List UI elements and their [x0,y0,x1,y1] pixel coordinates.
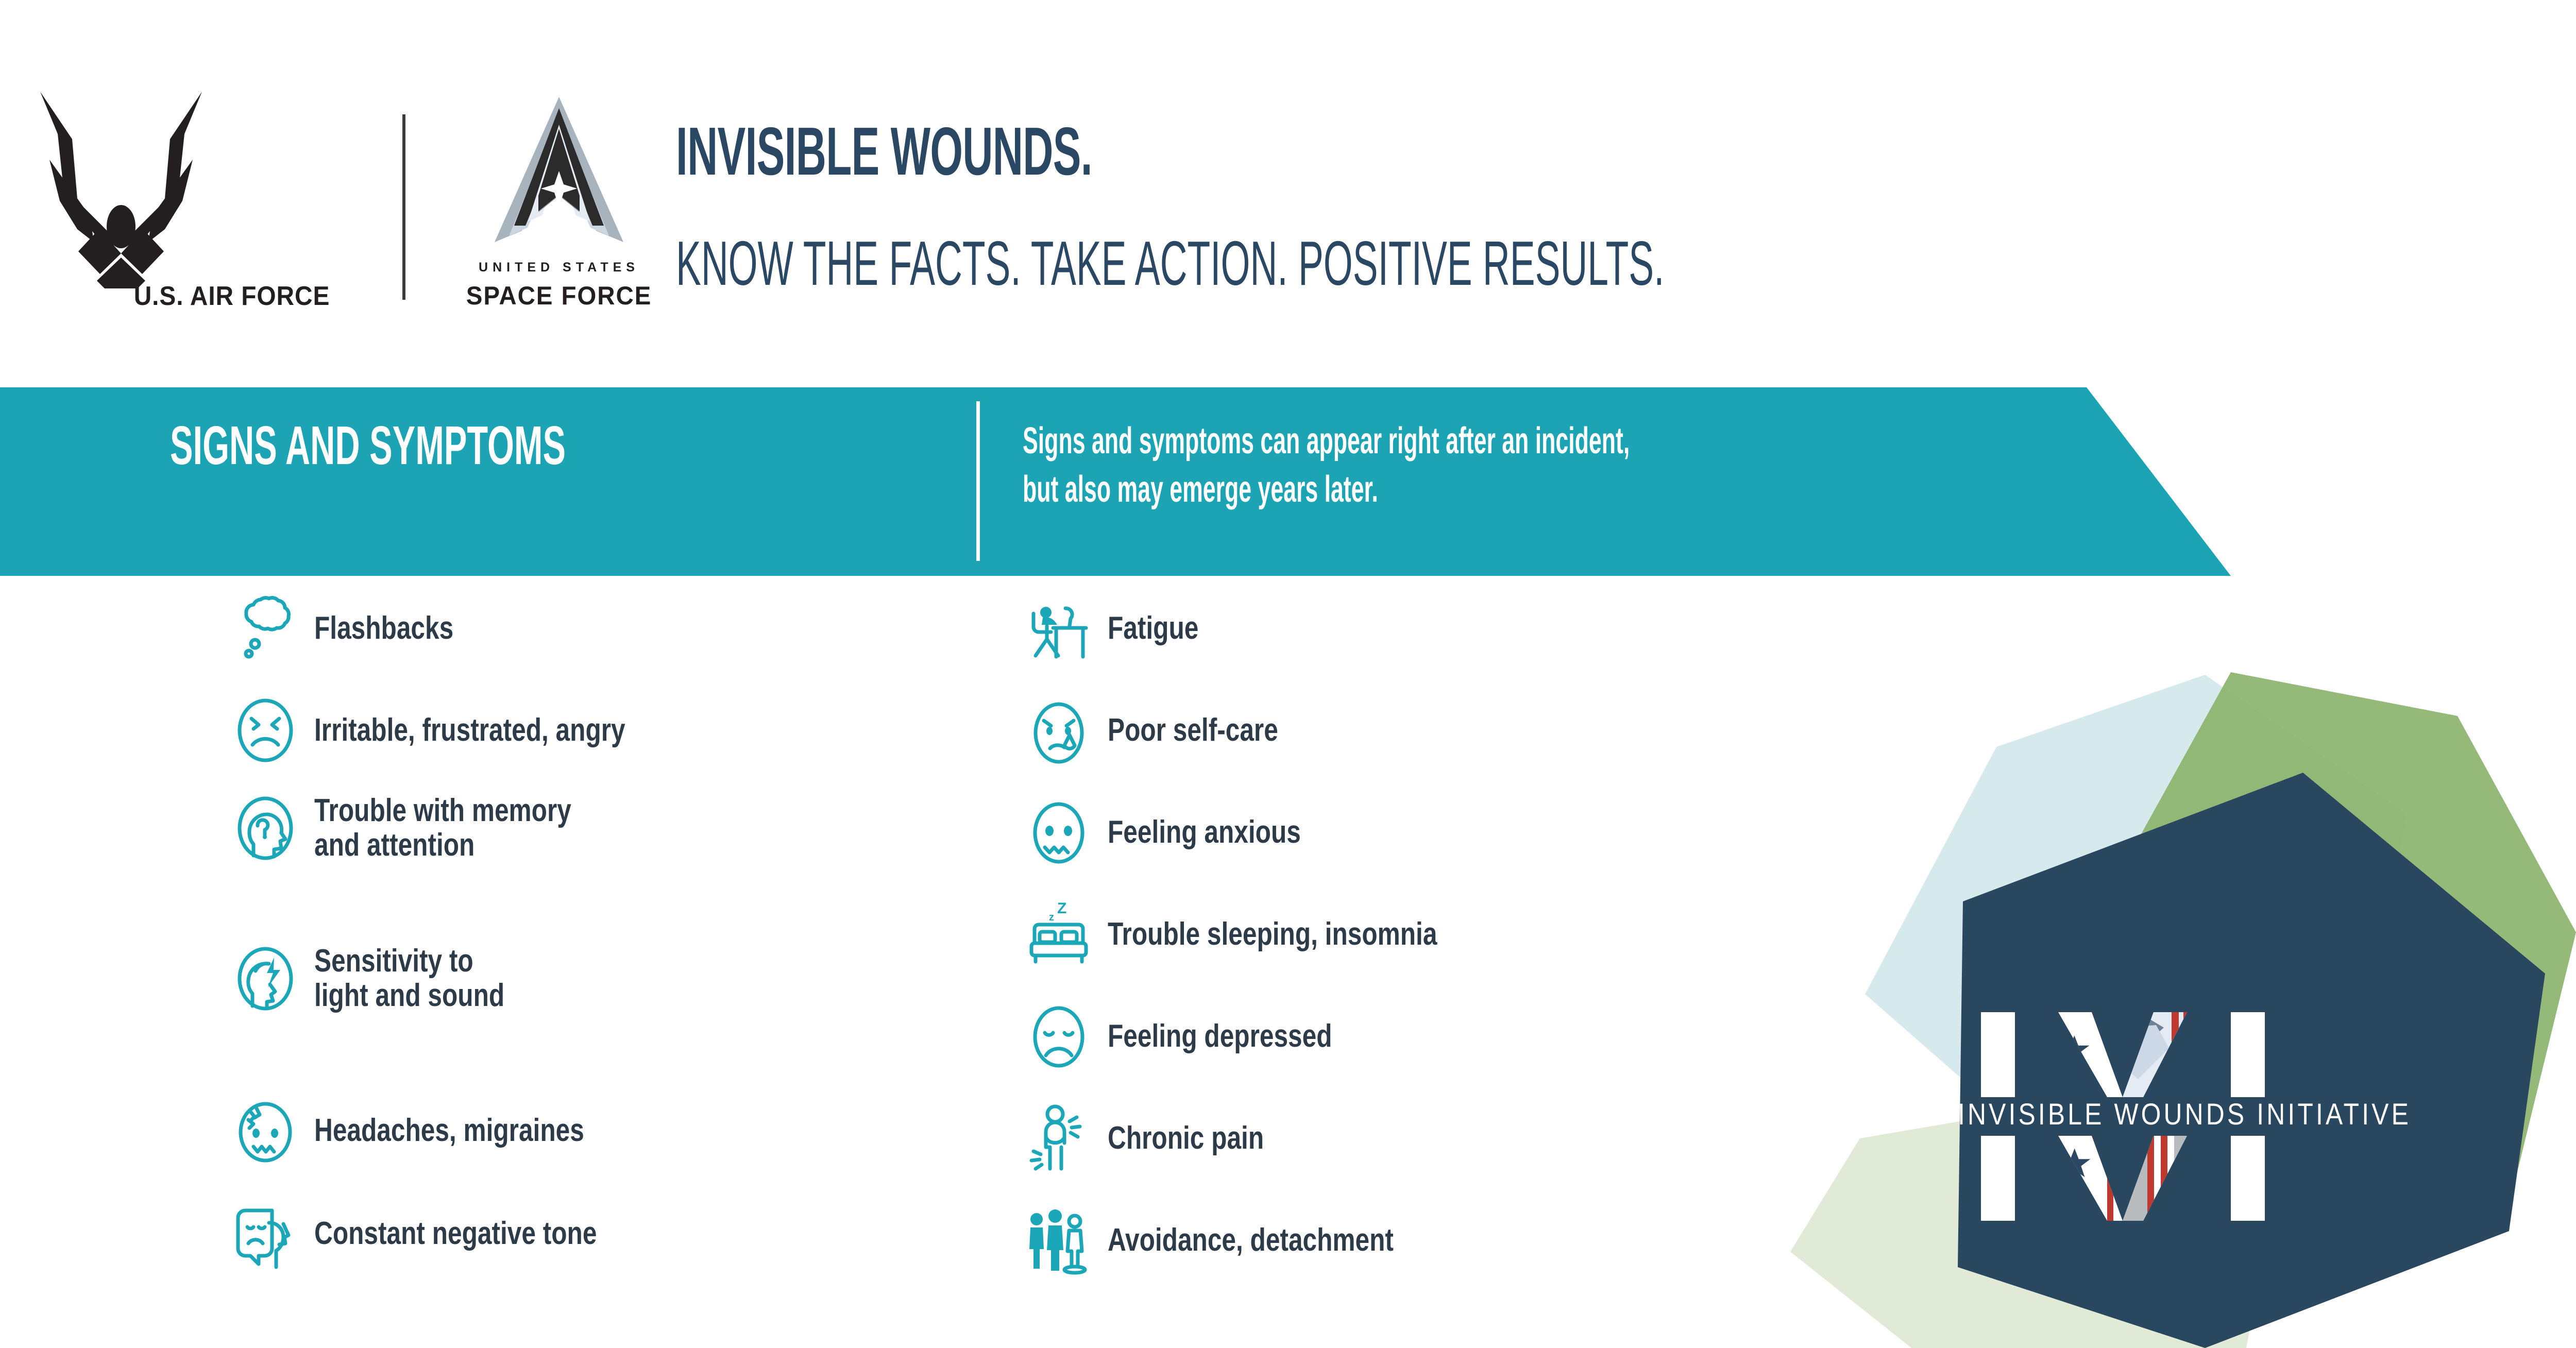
header: U.S. AIR FORCE UNITED STATES SPACE FORCE… [0,0,2576,387]
symptom-label: Fatigue [1108,611,1198,646]
symptom-item: Poor self-care [1010,689,1834,772]
symptom-label: Trouble sleeping, insomnia [1108,917,1437,952]
headache-face-icon [216,1089,314,1172]
head-sensitivity-icon [216,937,314,1020]
people-group-icon [1010,1199,1108,1282]
banner-description-line2: but also may emerge years later. [1023,469,1378,510]
symptom-item: Z z Trouble sleeping, insomnia [1010,893,1834,976]
page-title: INVISIBLE WOUNDS. [676,117,1092,185]
decorative-polygons [1741,644,2576,1348]
symptom-label: Constant negative tone [314,1217,597,1251]
symptom-item: Feeling anxious [1010,791,1834,874]
iwi-wordmark: INVISIBLE WOUNDS INITIATIVE [1958,1098,2411,1131]
symptom-label: Headaches, migraines [314,1114,584,1148]
iwi-letter-w-top [2053,1007,2200,1102]
symptom-label: Feeling anxious [1108,815,1301,850]
symptom-item: Flashbacks [216,587,989,670]
symptom-label: Trouble with memory and attention [314,794,571,863]
iwi-letter-i-top-right [2231,1012,2265,1097]
iwi-logo: INVISIBLE WOUNDS INITIATIVE WWW.MISSIONR… [1953,1007,2427,1223]
angry-face-icon [216,689,314,772]
banner-title: SIGNS AND SYMPTOMS [170,418,566,473]
space-force-country-label: UNITED STATES [448,260,670,275]
symptom-item: Avoidance, detachment [1010,1199,1834,1282]
thought-cloud-icon [216,587,314,670]
iwi-letter-i-top-left [1981,1012,2015,1097]
svg-text:Z: Z [1057,900,1066,917]
iwi-letter-w-bottom [2053,1131,2197,1223]
symptom-label: Flashbacks [314,611,453,646]
iwi-letter-i-bottom-right [2231,1136,2265,1221]
signs-and-symptoms-banner: SIGNS AND SYMPTOMS Signs and symptoms ca… [0,387,2231,576]
symptom-item: Irritable, frustrated, angry [216,689,989,772]
symptom-item: Constant negative tone [216,1192,989,1275]
anxious-face-icon [1010,791,1108,874]
symptom-item: Trouble with memory and attention [216,787,989,869]
iwi-letter-i-bottom-left [1981,1136,2015,1221]
symptom-item: Chronic pain [1010,1097,1834,1180]
symptom-item: Sensitivity to light and sound [216,937,989,1020]
symptom-label: Feeling depressed [1108,1019,1332,1054]
space-force-logo [474,93,644,252]
symptom-label: Irritable, frustrated, angry [314,713,625,748]
air-force-label: U.S. AIR FORCE [106,281,358,312]
bed-sleep-icon: Z z [1010,893,1108,976]
body-pain-icon [1010,1097,1108,1180]
space-force-label: SPACE FORCE [449,281,669,311]
symptom-label: Poor self-care [1108,713,1278,748]
air-force-logo [0,72,242,288]
symptom-item: Feeling depressed [1010,995,1834,1078]
symptom-item: Headaches, migraines [216,1089,989,1172]
symptom-item: Fatigue [1010,587,1834,670]
crying-face-icon [1010,689,1108,772]
svg-text:z: z [1049,912,1054,923]
head-memory-icon [216,787,314,869]
symptom-label: Avoidance, detachment [1108,1223,1394,1258]
sad-face-icon [1010,995,1108,1078]
tired-at-desk-icon [1010,587,1108,670]
banner-divider [976,401,980,561]
symptom-label: Sensitivity to light and sound [314,944,504,1013]
banner-description: Signs and symptoms can appear right afte… [1023,417,1630,514]
logo-divider [402,114,405,300]
page-subtitle: KNOW THE FACTS. TAKE ACTION. POSITIVE RE… [676,232,1664,295]
symptom-label: Chronic pain [1108,1121,1264,1156]
negative-speech-icon [216,1192,314,1275]
banner-description-line1: Signs and symptoms can appear right afte… [1023,420,1630,462]
